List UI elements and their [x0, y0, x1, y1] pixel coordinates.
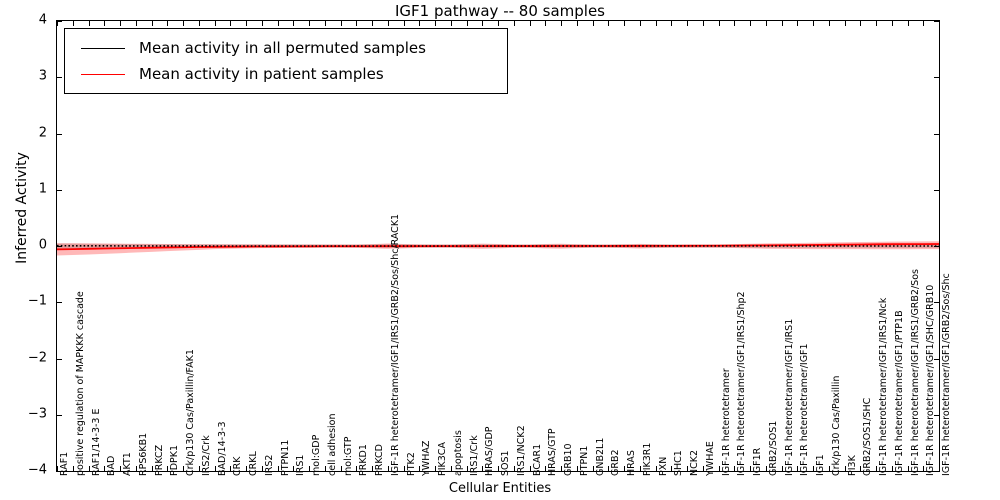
x-tick — [246, 466, 247, 471]
x-tick-label: BCAR1 — [533, 444, 543, 476]
x-tick — [703, 21, 704, 26]
y-tick — [57, 190, 62, 191]
x-tick-label: IGF-1R heterotetramer/IGF1/PTP1B — [895, 310, 905, 476]
x-tick-label: PXN — [659, 457, 669, 476]
x-tick — [278, 466, 279, 471]
x-tick — [530, 21, 531, 26]
x-tick-label: cell adhesion — [328, 413, 338, 476]
x-tick-label: PI3K — [848, 455, 858, 476]
legend-swatch-permuted — [81, 48, 125, 49]
x-tick-label: RAF1/14-3-3 E — [92, 409, 102, 476]
x-tick — [341, 466, 342, 471]
x-tick — [782, 466, 783, 471]
x-tick — [372, 21, 373, 26]
x-tick — [797, 21, 798, 26]
x-tick — [356, 21, 357, 26]
x-tick-label: PRKD1 — [359, 444, 369, 476]
y-tick-label: −2 — [28, 350, 47, 365]
x-tick — [215, 466, 216, 471]
x-tick — [593, 21, 594, 26]
x-tick-label: Crk/p130 Cas/Paxillin/FAK1 — [186, 349, 196, 476]
legend-item-permuted: Mean activity in all permuted samples — [73, 35, 499, 61]
x-tick-label: IGF-1R heterotetramer/IGF1/IRS1/Shp2 — [737, 291, 747, 476]
y-tick-label: 0 — [39, 238, 47, 253]
x-tick — [829, 466, 830, 471]
x-tick — [467, 466, 468, 471]
x-tick — [57, 466, 58, 471]
y-axis-title: Inferred Activity — [14, 108, 30, 308]
x-tick-label: IRS2 — [265, 455, 275, 476]
x-tick — [561, 21, 562, 26]
x-tick — [262, 21, 263, 26]
x-tick — [687, 466, 688, 471]
x-tick — [435, 21, 436, 26]
legend-swatch-patient — [81, 74, 125, 75]
x-tick-label: IGF-1R heterotetramer/IGF1/SHC/GRB10 — [926, 285, 936, 476]
x-tick — [57, 21, 58, 26]
x-tick — [593, 466, 594, 471]
x-tick — [167, 21, 168, 26]
x-tick — [372, 466, 373, 471]
x-tick-label: YWHAE — [706, 441, 716, 476]
x-tick — [687, 21, 688, 26]
x-tick — [435, 466, 436, 471]
legend-label-permuted: Mean activity in all permuted samples — [139, 39, 426, 57]
y-tick-label: −1 — [28, 294, 47, 309]
x-tick — [876, 466, 877, 471]
x-tick — [325, 466, 326, 471]
y-tick — [57, 77, 62, 78]
x-tick — [467, 21, 468, 26]
y-tick — [934, 77, 939, 78]
x-tick — [498, 466, 499, 471]
legend-item-patient: Mean activity in patient samples — [73, 61, 499, 87]
x-tick — [199, 21, 200, 26]
x-tick-label: positive regulation of MAPKKK cascade — [76, 291, 86, 476]
x-tick — [923, 21, 924, 26]
y-tick — [57, 302, 62, 303]
x-tick — [577, 21, 578, 26]
x-tick — [860, 21, 861, 26]
x-tick-label: BAD/14-3-3 — [218, 421, 228, 476]
x-tick-label: IRS1/NCK2 — [517, 425, 527, 476]
x-tick-label: IGF1R — [753, 448, 763, 476]
x-tick-label: GNB2L1 — [596, 438, 606, 476]
y-tick — [57, 415, 62, 416]
x-tick — [813, 21, 814, 26]
y-tick — [934, 190, 939, 191]
x-tick — [939, 466, 940, 471]
x-tick-label: IGF-1R heterotetramer/IGF1 — [800, 343, 810, 476]
chart-root: IGF1 pathway -- 80 samples Inferred Acti… — [0, 0, 1000, 500]
x-tick — [530, 466, 531, 471]
y-tick-label: 2 — [39, 125, 47, 140]
x-tick-label: PDPK1 — [170, 445, 180, 476]
x-tick-label: CRK — [233, 457, 243, 476]
x-tick-label: IRS1/Crk — [470, 435, 480, 476]
x-tick-label: IRS1 — [296, 455, 306, 476]
y-tick-label: −3 — [28, 406, 47, 421]
x-tick — [892, 466, 893, 471]
x-tick — [73, 21, 74, 26]
x-tick-label: PRKCZ — [155, 445, 165, 476]
x-tick — [671, 21, 672, 26]
x-tick-label: mol:GDP — [312, 435, 322, 476]
y-tick — [934, 246, 939, 247]
x-tick — [719, 466, 720, 471]
x-tick-label: HRAS — [627, 450, 637, 476]
x-tick-label: SOS1 — [501, 450, 511, 476]
y-tick — [57, 134, 62, 135]
x-tick — [183, 466, 184, 471]
x-tick-label: mol:GTP — [344, 437, 354, 476]
x-tick — [908, 466, 909, 471]
x-tick — [813, 466, 814, 471]
x-tick-label: HRAS/GDP — [485, 427, 495, 477]
x-tick-label: BAD — [107, 456, 117, 476]
x-tick — [482, 21, 483, 26]
x-tick — [388, 466, 389, 471]
x-tick-label: IRS2/Crk — [202, 435, 212, 476]
x-tick-label: GRB2/SOS1 — [769, 421, 779, 476]
x-tick — [419, 21, 420, 26]
x-tick-label: GRB2 — [611, 449, 621, 476]
y-tick-label: 4 — [39, 13, 47, 28]
y-tick — [934, 134, 939, 135]
x-tick — [845, 21, 846, 26]
x-tick — [404, 21, 405, 26]
x-tick — [404, 466, 405, 471]
x-tick-label: Crk/p130 Cas/Paxillin — [832, 376, 842, 476]
y-tick — [57, 246, 62, 247]
x-tick — [262, 466, 263, 471]
x-tick — [278, 21, 279, 26]
x-tick — [766, 466, 767, 471]
x-tick — [89, 21, 90, 26]
x-tick — [293, 21, 294, 26]
x-tick — [183, 21, 184, 26]
x-tick — [624, 21, 625, 26]
legend: Mean activity in all permuted samples Me… — [64, 28, 508, 94]
x-tick — [656, 466, 657, 471]
x-tick-label: apoptosis — [454, 430, 464, 476]
x-tick — [309, 21, 310, 26]
x-tick — [640, 466, 641, 471]
x-tick-label: IGF-1R heterotetramer/IGF1/IRS1/Nck — [879, 298, 889, 476]
x-tick — [451, 21, 452, 26]
x-axis-title: Cellular Entities — [0, 481, 1000, 496]
x-tick — [89, 466, 90, 471]
x-tick-label: IGF-1R heterotetramer/IGF1/IRS1/GRB2/Sos — [911, 269, 921, 476]
x-tick-label: NCK2 — [690, 450, 700, 476]
x-tick-label: RAF1 — [60, 452, 70, 476]
x-tick-label: AKT1 — [123, 452, 133, 476]
x-tick — [325, 21, 326, 26]
x-tick — [73, 466, 74, 471]
y-tick-label: 1 — [39, 181, 47, 196]
x-tick — [341, 21, 342, 26]
x-tick — [703, 466, 704, 471]
x-tick — [561, 466, 562, 471]
x-tick — [719, 21, 720, 26]
x-tick-label: IGF1 — [816, 454, 826, 476]
y-tick-label: 3 — [39, 69, 47, 84]
x-tick — [829, 21, 830, 26]
y-tick — [57, 359, 62, 360]
x-tick — [152, 21, 153, 26]
x-tick — [750, 21, 751, 26]
x-tick — [246, 21, 247, 26]
x-tick-label: PIK3R1 — [643, 443, 653, 476]
x-tick — [120, 21, 121, 26]
x-tick — [136, 466, 137, 471]
x-tick — [750, 466, 751, 471]
x-tick-label: HRAS/GTP — [548, 428, 558, 476]
x-tick-label: IGF-1R heterotetramer/IGF1/IRS1/GRB2/Sos… — [391, 214, 401, 476]
x-tick-label: PTK2 — [407, 452, 417, 476]
x-tick — [498, 21, 499, 26]
x-tick — [766, 21, 767, 26]
x-tick-label: PTPN1 — [580, 446, 590, 476]
x-tick — [577, 466, 578, 471]
x-tick-label: PIK3CA — [438, 442, 448, 476]
x-tick — [514, 466, 515, 471]
x-tick-label: PTPN11 — [281, 440, 291, 476]
patient-confidence-band — [57, 241, 939, 255]
x-tick-label: RPS6KB1 — [139, 433, 149, 476]
x-tick — [939, 21, 940, 26]
x-tick — [388, 21, 389, 26]
x-tick-label: GRB2/SOS1/SHC — [863, 398, 873, 476]
x-tick — [908, 21, 909, 26]
x-tick — [734, 21, 735, 26]
x-tick — [120, 466, 121, 471]
x-tick — [136, 21, 137, 26]
x-tick — [230, 21, 231, 26]
x-tick — [199, 466, 200, 471]
x-tick — [845, 466, 846, 471]
x-tick — [892, 21, 893, 26]
x-tick-label: GRB10 — [564, 443, 574, 476]
y-tick-label: −4 — [28, 463, 47, 478]
x-tick-label: CRKL — [249, 451, 259, 476]
x-tick-label: IGF-1R heterotetramer/IGF1/IRS1 — [785, 319, 795, 476]
legend-label-patient: Mean activity in patient samples — [139, 65, 384, 83]
x-tick-label: IGF-1R heterotetramer/IGF1/GRB2/Sos/Shc — [942, 273, 952, 476]
x-tick — [104, 21, 105, 26]
x-tick — [451, 466, 452, 471]
x-tick-label: SHC1 — [674, 450, 684, 476]
x-tick — [514, 21, 515, 26]
x-tick — [152, 466, 153, 471]
x-tick-label: YWHAZ — [422, 441, 432, 476]
chart-title: IGF1 pathway -- 80 samples — [0, 2, 1000, 20]
x-tick-label: IGF-1R heterotetramer — [722, 368, 732, 476]
x-tick — [608, 21, 609, 26]
x-tick — [545, 21, 546, 26]
x-tick — [215, 21, 216, 26]
x-tick-label: PRKCD — [375, 444, 385, 476]
x-tick — [782, 21, 783, 26]
x-tick — [640, 21, 641, 26]
x-tick — [624, 466, 625, 471]
x-tick — [876, 21, 877, 26]
x-tick — [309, 466, 310, 471]
x-tick — [656, 21, 657, 26]
